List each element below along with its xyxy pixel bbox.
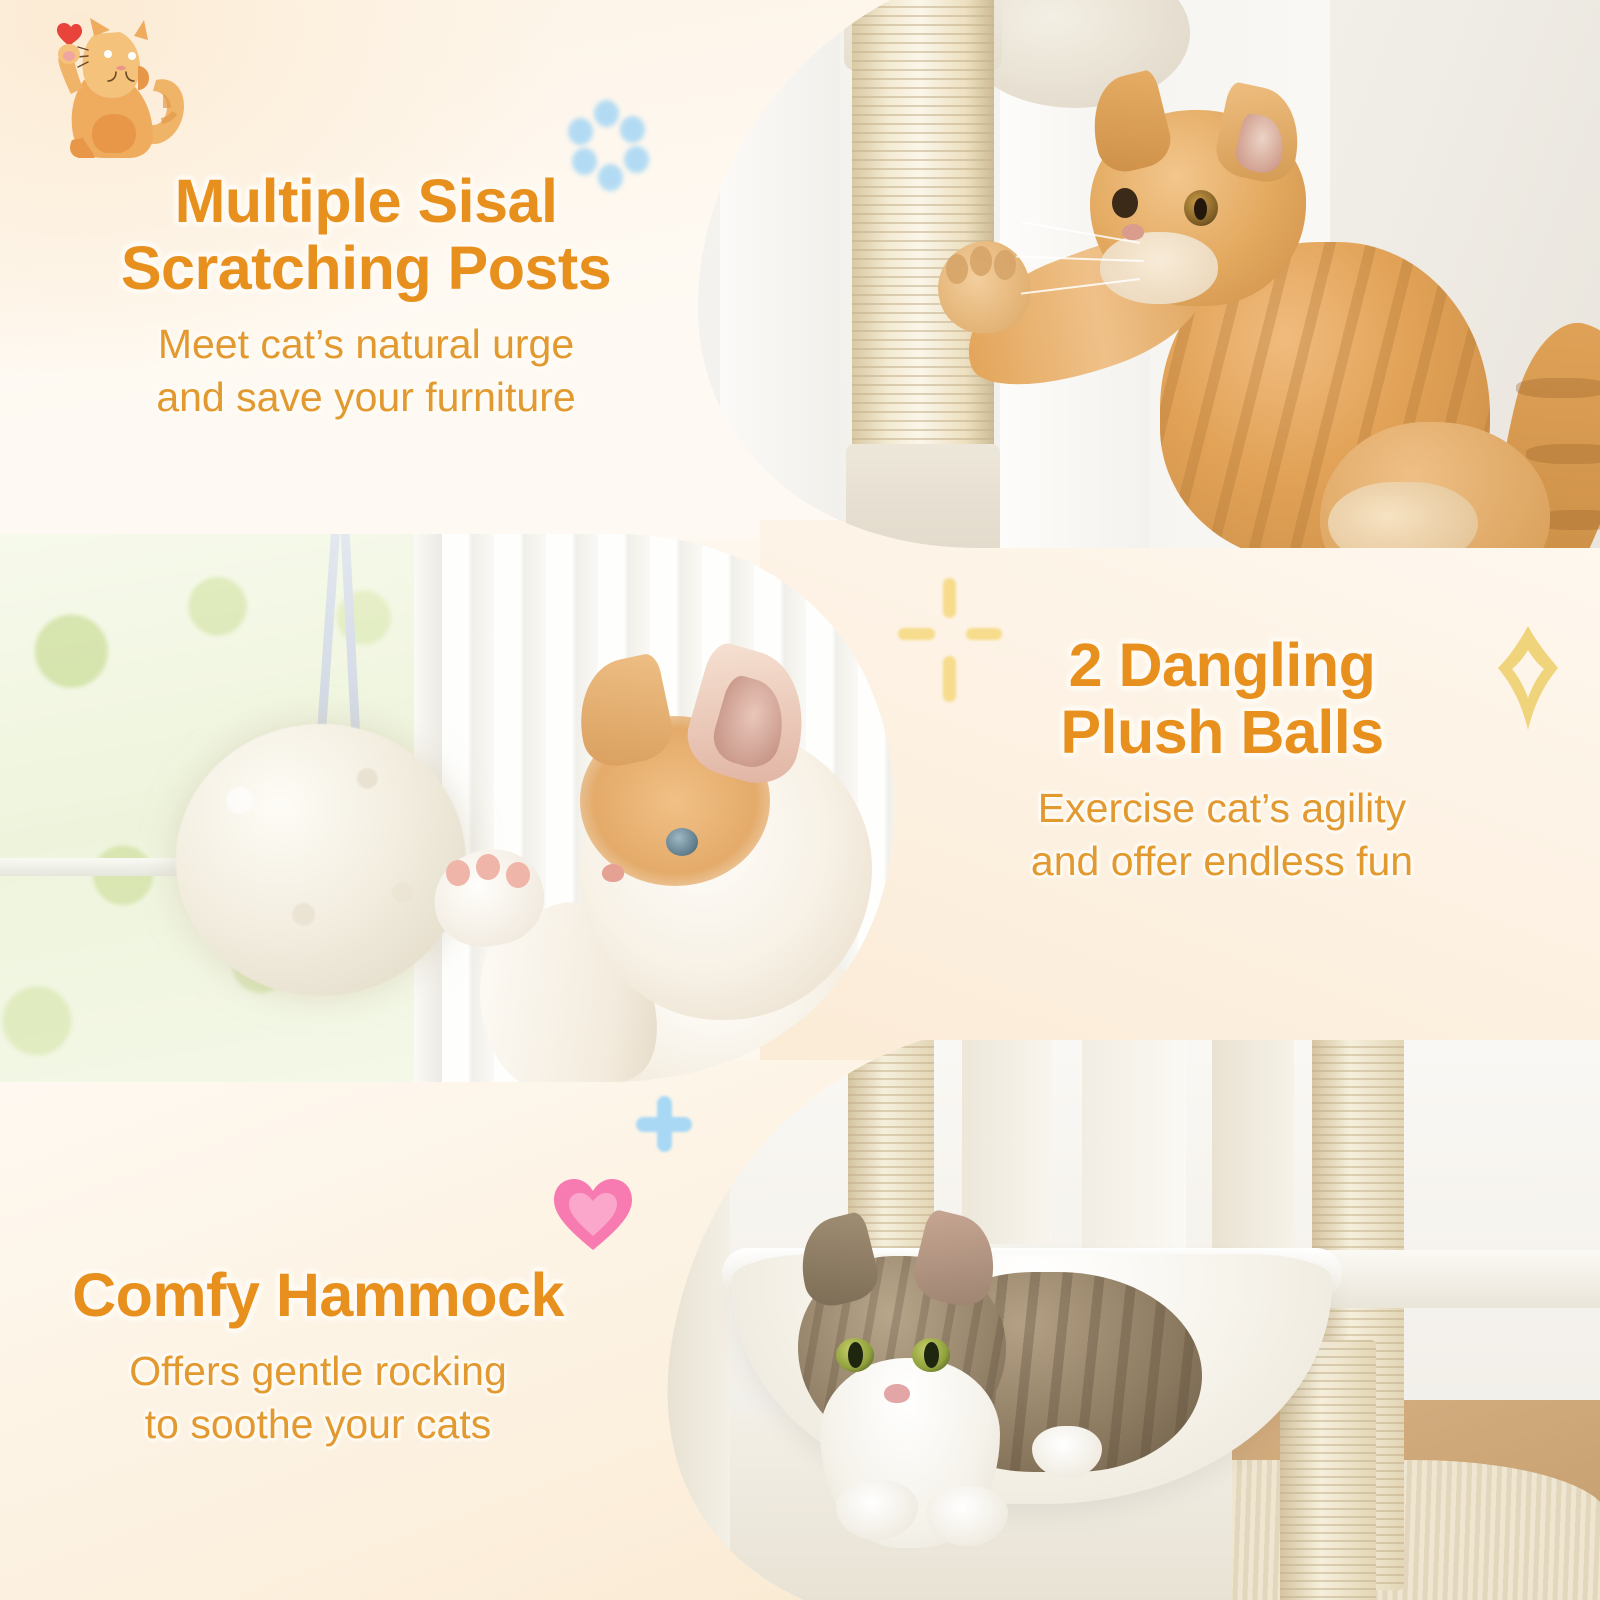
subheading-line-1: Meet cat’s natural urge	[96, 318, 636, 371]
photo-scratching-posts	[660, 0, 1600, 548]
photo-dangling-plush-ball	[0, 528, 900, 1088]
tail-stripe	[1526, 444, 1600, 464]
cat-pupil-left	[848, 1342, 863, 1368]
blue-plus-icon	[636, 1096, 692, 1152]
plush-post	[962, 1040, 1052, 1244]
cat-nose	[884, 1384, 910, 1403]
cat-pupil-right	[924, 1342, 939, 1368]
heading-scratching-posts: Multiple Sisal Scratching Posts	[96, 168, 636, 302]
heading-line-2: Plush Balls	[962, 699, 1482, 766]
subheading-line-1: Offers gentle rocking	[48, 1345, 588, 1398]
cat-eye-left	[1112, 188, 1138, 218]
cat-nose	[1122, 224, 1144, 240]
scratch-scene	[660, 0, 1600, 548]
pink-heart-icon	[550, 1176, 636, 1254]
heading-line-1: 2 Dangling	[962, 632, 1482, 699]
subheading-comfy-hammock: Offers gentle rocking to soothe your cat…	[48, 1345, 588, 1452]
paw-pad	[506, 862, 530, 888]
subheading-scratching-posts: Meet cat’s natural urge and save your fu…	[96, 318, 636, 425]
cat-toe	[946, 254, 968, 284]
kitten-nose	[602, 864, 624, 882]
cat-toe	[994, 250, 1016, 280]
mascot-heart-icon	[57, 23, 82, 46]
gold-diamond-icon	[1492, 622, 1564, 734]
heading-dangling-plush-balls: 2 Dangling Plush Balls	[962, 632, 1482, 766]
plush-post	[1212, 1040, 1294, 1274]
subheading-dangling-plush-balls: Exercise cat’s agility and offer endless…	[962, 782, 1482, 889]
cat-pupil-right	[1194, 198, 1207, 220]
plush-ball-texture	[176, 724, 466, 996]
cat-hind-foot	[1328, 482, 1478, 548]
paw-pad	[446, 860, 470, 886]
feature-text-scratching-posts: Multiple Sisal Scratching Posts Meet cat…	[96, 168, 636, 425]
heading-line-1: Comfy Hammock	[48, 1262, 588, 1329]
tail-stripe	[1516, 378, 1600, 398]
infographic-canvas: Multiple Sisal Scratching Posts Meet cat…	[0, 0, 1600, 1600]
subheading-line-2: and offer endless fun	[962, 835, 1482, 888]
feature-text-comfy-hammock: Comfy Hammock Offers gentle rocking to s…	[48, 1262, 588, 1452]
plush-post	[1082, 1040, 1186, 1260]
heading-line-2: Scratching Posts	[96, 235, 636, 302]
heading-line-1: Multiple Sisal	[96, 168, 636, 235]
subheading-line-2: and save your furniture	[96, 371, 636, 424]
subheading-line-2: to soothe your cats	[48, 1398, 588, 1451]
cat-muzzle	[1100, 232, 1218, 304]
heading-comfy-hammock: Comfy Hammock	[48, 1262, 588, 1329]
mascot-raised-paw	[58, 44, 83, 94]
subheading-line-1: Exercise cat’s agility	[962, 782, 1482, 835]
kitten-eye	[666, 828, 698, 856]
plush-ball-scene	[0, 528, 900, 1088]
cat-mascot-illustration	[22, 14, 202, 184]
paw-pad	[476, 854, 500, 880]
feature-text-dangling-plush-balls: 2 Dangling Plush Balls Exercise cat’s ag…	[962, 632, 1482, 889]
platform-shelf	[1312, 1250, 1600, 1308]
cat-toe	[970, 246, 992, 276]
